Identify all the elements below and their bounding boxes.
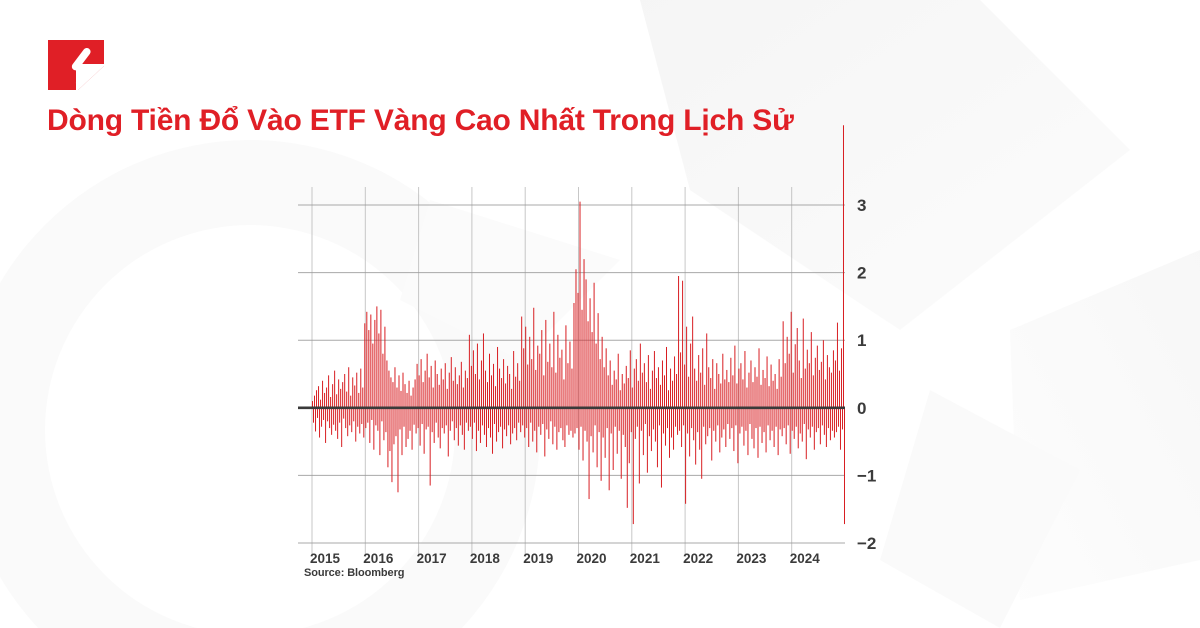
svg-text:2017: 2017 <box>417 551 447 566</box>
svg-text:0: 0 <box>857 399 866 418</box>
brand-logo-icon <box>48 40 104 90</box>
svg-text:2015: 2015 <box>310 551 341 566</box>
svg-text:2019: 2019 <box>523 551 553 566</box>
svg-text:2016: 2016 <box>363 551 394 566</box>
x-axis-tick-labels: 2015201620172018201920202021202220232024 <box>310 551 820 566</box>
svg-text:−1: −1 <box>857 466 876 485</box>
y-axis-tick-labels: 3210−1−2 <box>857 196 876 553</box>
svg-text:2023: 2023 <box>736 551 767 566</box>
svg-text:−2: −2 <box>857 534 876 553</box>
svg-text:3: 3 <box>857 196 866 215</box>
source-note: Source: Bloomberg <box>304 567 404 579</box>
svg-text:2021: 2021 <box>630 551 661 566</box>
gold-etf-flows-chart: 3210−1−2 2015201620172018201920202021202… <box>0 0 1200 628</box>
svg-text:2020: 2020 <box>577 551 607 566</box>
svg-text:2: 2 <box>857 264 866 283</box>
svg-text:2022: 2022 <box>683 551 713 566</box>
svg-text:1: 1 <box>857 331 866 350</box>
page-title: Dòng Tiền Đổ Vào ETF Vàng Cao Nhất Trong… <box>47 104 794 139</box>
svg-text:2018: 2018 <box>470 551 501 566</box>
svg-text:2024: 2024 <box>790 551 821 566</box>
